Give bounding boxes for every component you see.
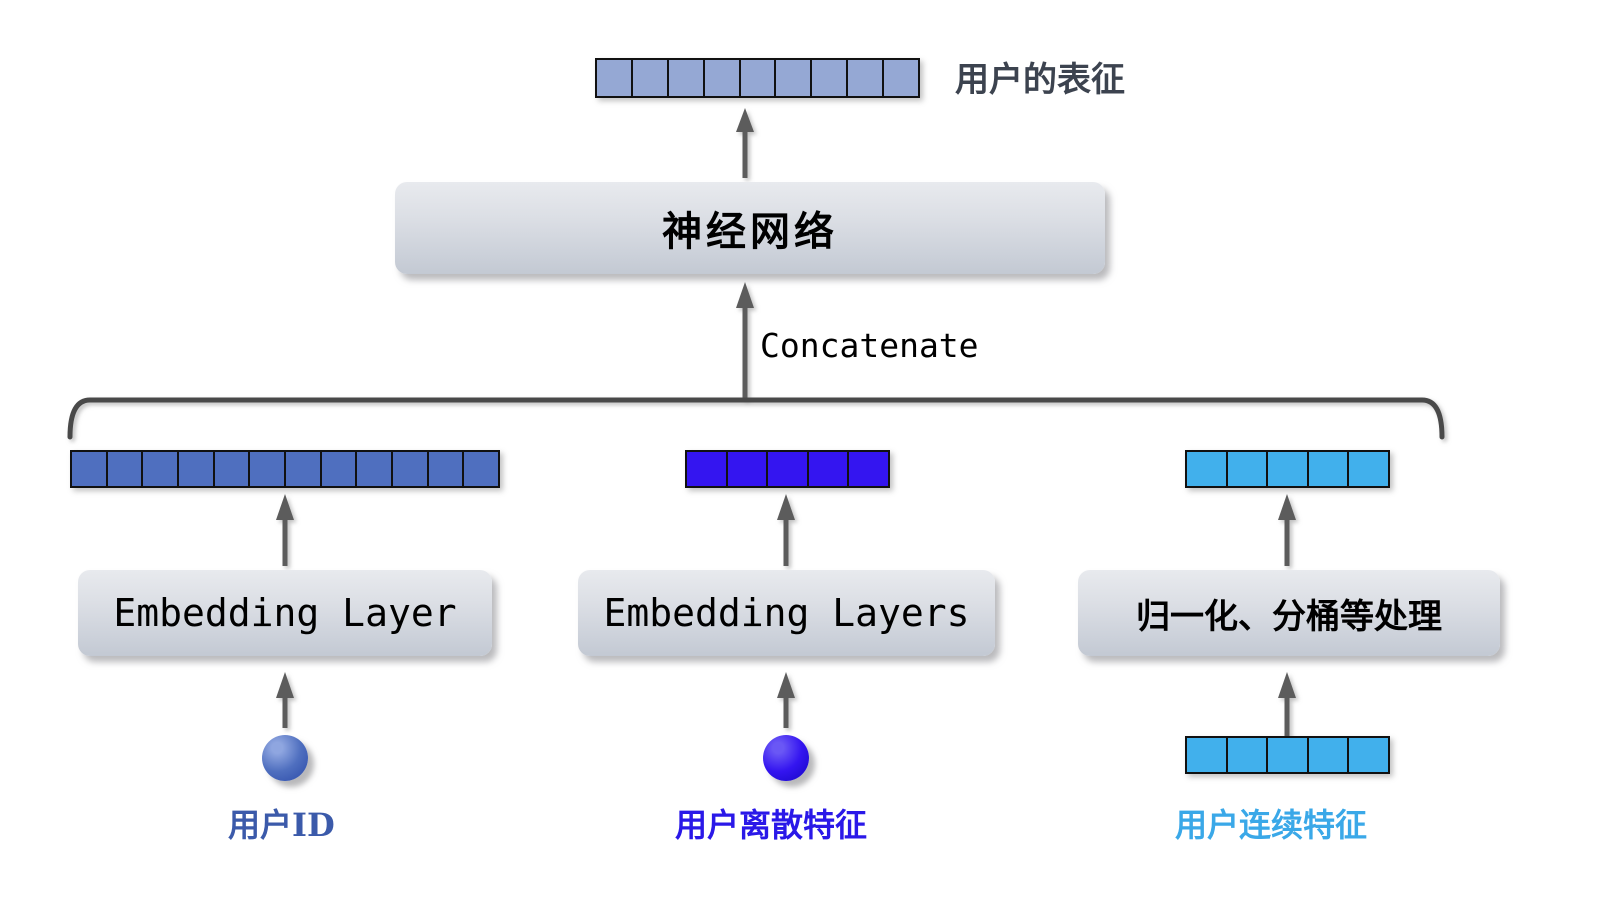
user-id-label: 用户ID: [228, 800, 335, 846]
vector-cell: [728, 452, 769, 486]
vector-cell: [809, 452, 850, 486]
vector-cell: [357, 452, 393, 486]
arrow-input1-to-box1: [276, 672, 294, 728]
vector-cell: [1309, 738, 1350, 772]
vector-cell: [464, 452, 498, 486]
embedding-layer-box[interactable]: Embedding Layer: [78, 570, 492, 656]
vector-cell: [597, 60, 633, 96]
vector-cell: [108, 452, 144, 486]
vector-cell: [1187, 452, 1228, 486]
user-continuous-input-vector[interactable]: [1185, 736, 1390, 774]
vector-cell: [1349, 738, 1388, 772]
user-continuous-processed-vector[interactable]: [1185, 450, 1390, 488]
user-id-node-icon[interactable]: [262, 735, 308, 781]
vector-cell: [1228, 452, 1269, 486]
vector-cell: [429, 452, 465, 486]
vector-cell: [669, 60, 705, 96]
vector-cell: [179, 452, 215, 486]
embedding-layers-box-label: Embedding Layers: [603, 591, 969, 635]
neural-network-box-label: 神经网络: [662, 199, 838, 257]
user-representation-vector[interactable]: [595, 58, 920, 98]
concat-bracket: [70, 400, 1442, 437]
neural-network-box[interactable]: 神经网络: [395, 182, 1105, 274]
arrow-box1-to-vector1: [276, 494, 294, 566]
vector-cell: [393, 452, 429, 486]
vector-cell: [849, 452, 888, 486]
vector-cell: [741, 60, 777, 96]
embedding-layers-box[interactable]: Embedding Layers: [578, 570, 995, 656]
vector-cell: [705, 60, 741, 96]
user-continuous-features-label: 用户连续特征: [1175, 800, 1367, 846]
normalize-bucketize-box-label: 归一化、分桶等处理: [1136, 589, 1442, 638]
vector-cell: [1309, 452, 1350, 486]
arrow-concat-to-nn: [736, 282, 754, 400]
vector-cell: [776, 60, 812, 96]
vector-cell: [72, 452, 108, 486]
arrow-nn-to-output: [736, 108, 754, 178]
normalize-bucketize-box[interactable]: 归一化、分桶等处理: [1078, 570, 1500, 656]
vector-cell: [322, 452, 358, 486]
vector-cell: [1268, 452, 1309, 486]
vector-cell: [1268, 738, 1309, 772]
vector-cell: [1187, 738, 1228, 772]
vector-cell: [884, 60, 918, 96]
diagram-canvas: 用户的表征 神经网络 Concatenate Embedding Layer E…: [0, 0, 1598, 901]
vector-cell: [1228, 738, 1269, 772]
vector-cell: [143, 452, 179, 486]
vector-cell: [250, 452, 286, 486]
user-id-embedding-vector[interactable]: [70, 450, 500, 488]
vector-cell: [633, 60, 669, 96]
concatenate-label: Concatenate: [760, 326, 979, 365]
vector-cell: [215, 452, 251, 486]
arrow-box3-to-vector3: [1278, 494, 1296, 566]
vector-cell: [1349, 452, 1388, 486]
vector-cell: [812, 60, 848, 96]
vector-cell: [848, 60, 884, 96]
user-discrete-embedding-vector[interactable]: [685, 450, 890, 488]
output-label: 用户的表征: [955, 52, 1125, 101]
arrow-input3-to-box3: [1278, 672, 1296, 740]
arrow-input2-to-box2: [777, 672, 795, 728]
user-discrete-features-label: 用户离散特征: [675, 800, 867, 846]
arrow-box2-to-vector2: [777, 494, 795, 566]
vector-cell: [768, 452, 809, 486]
user-discrete-node-icon[interactable]: [763, 735, 809, 781]
vector-cell: [286, 452, 322, 486]
vector-cell: [687, 452, 728, 486]
embedding-layer-box-label: Embedding Layer: [113, 591, 456, 635]
